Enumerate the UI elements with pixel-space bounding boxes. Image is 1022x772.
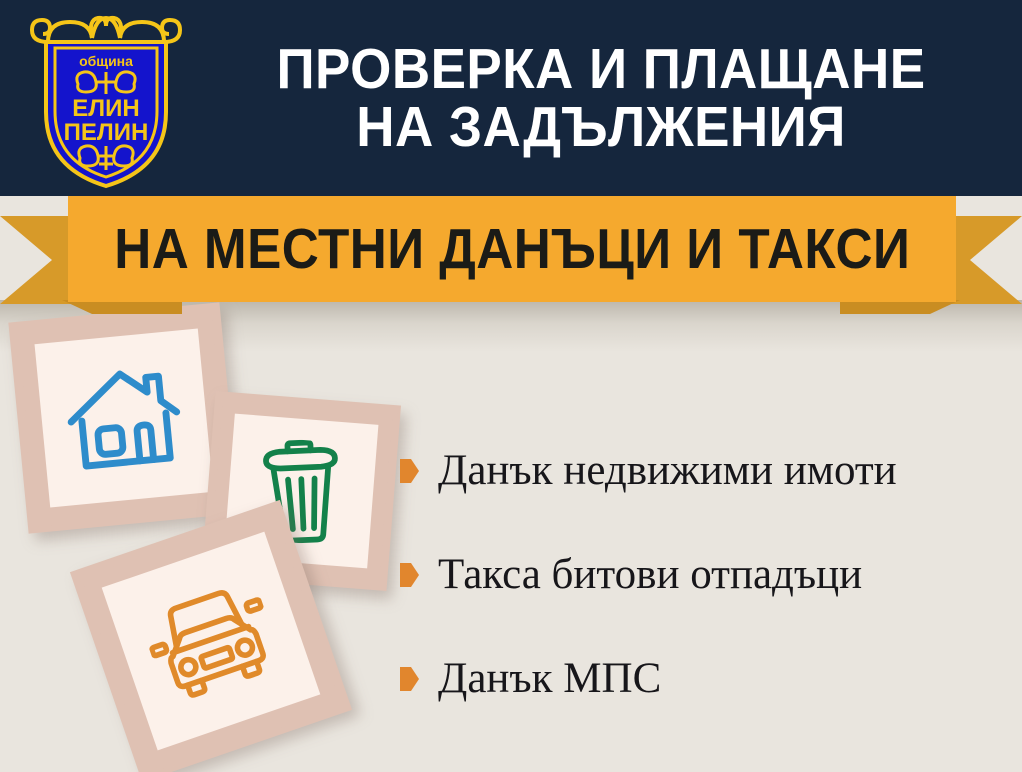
svg-text:ПЕЛИН: ПЕЛИН: [64, 119, 149, 146]
svg-text:община: община: [79, 53, 133, 69]
poster-canvas: община ЕЛИН ПЕЛИН ПРОВЕРКА И ПЛАЩАНЕ Н: [0, 0, 1022, 772]
ribbon-fold-left: [62, 300, 182, 314]
municipality-logo: община ЕЛИН ПЕЛИН: [22, 8, 190, 190]
page-title: ПРОВЕРКА И ПЛАЩАНЕ НА ЗАДЪЛЖЕНИЯ: [223, 12, 978, 184]
svg-text:ЕЛИН: ЕЛИН: [72, 95, 139, 122]
page-title-line1: ПРОВЕРКА И ПЛАЩАНЕ: [276, 40, 925, 98]
bullet-arrow-icon: [400, 459, 419, 483]
coat-of-arms-icon: община ЕЛИН ПЕЛИН: [22, 8, 190, 190]
ribbon-label: НА МЕСТНИ ДАНЪЦИ И ТАКСИ: [114, 216, 910, 282]
list-item[interactable]: Такса битови отпадъци: [400, 522, 1010, 626]
bullet-arrow-icon: [400, 563, 419, 587]
stamp-inner: [35, 329, 214, 508]
car-front-icon: [137, 573, 285, 708]
list-item-label: Данък МПС: [438, 657, 661, 700]
list-item-label: Такса битови отпадъци: [438, 553, 862, 596]
ribbon-fold-right: [840, 300, 960, 314]
list-item-label: Данък недвижими имоти: [438, 449, 897, 492]
list-item[interactable]: Данък МПС: [400, 626, 1010, 730]
ribbon-banner: НА МЕСТНИ ДАНЪЦИ И ТАКСИ: [68, 196, 956, 302]
list-item[interactable]: Данък недвижими имоти: [400, 418, 1010, 522]
subtitle-ribbon: НА МЕСТНИ ДАНЪЦИ И ТАКСИ: [0, 196, 1022, 306]
tax-types-list: Данък недвижими имоти Такса битови отпад…: [400, 418, 1010, 730]
stamp-card-property: [8, 302, 239, 533]
house-icon: [60, 359, 188, 478]
page-title-line2: НА ЗАДЪЛЖЕНИЯ: [356, 98, 846, 156]
bullet-arrow-icon: [400, 667, 419, 691]
